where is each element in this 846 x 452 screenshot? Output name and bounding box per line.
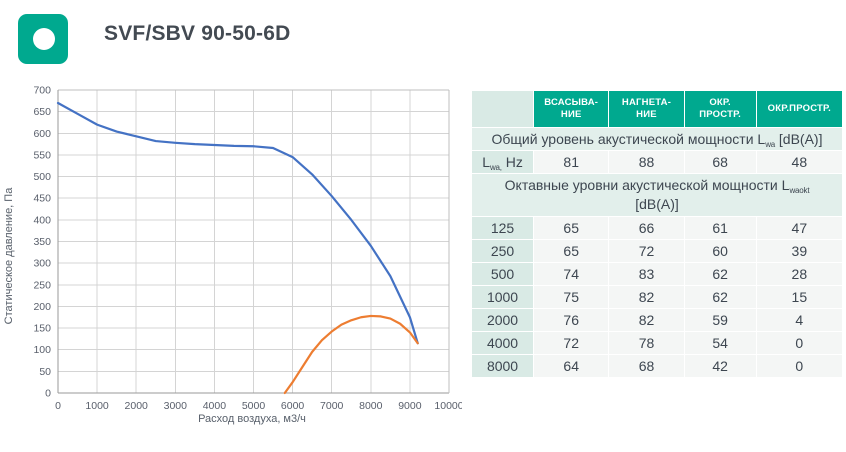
row-label-unit: Hz xyxy=(502,154,523,170)
cell-value: 82 xyxy=(609,286,683,308)
y-axis-tick-labels: 0501001502002503003504004505005506006507… xyxy=(33,85,51,400)
svg-text:0: 0 xyxy=(55,400,61,412)
brand-logo-icon xyxy=(18,14,68,64)
svg-text:6000: 6000 xyxy=(281,400,305,412)
svg-text:150: 150 xyxy=(33,323,51,335)
svg-text:600: 600 xyxy=(33,128,51,140)
cell-value: 72 xyxy=(609,240,683,262)
svg-text:3000: 3000 xyxy=(164,400,188,412)
cell-value: 28 xyxy=(757,263,842,285)
cell-frequency: 4000 xyxy=(472,332,533,354)
section-row-total: Общий уровень акустической мощности Lwa … xyxy=(472,128,842,150)
acoustic-power-table: ВСАСЫВА- НИЕ НАГНЕТА- НИЕ ОКР. ПРОСТР. О… xyxy=(471,90,843,378)
cell-value: 65 xyxy=(534,240,608,262)
header-discharge-line1: НАГНЕТА- xyxy=(622,97,671,108)
cell-value: 54 xyxy=(685,332,756,354)
cell-value: 68 xyxy=(685,151,756,173)
cell-value: 78 xyxy=(609,332,683,354)
section-total-text-after: [dB(A)] xyxy=(775,131,822,147)
cell-frequency: 125 xyxy=(472,217,533,239)
cell-frequency: 8000 xyxy=(472,355,533,377)
section-row-octave: Октавные уровни акустической мощности Lw… xyxy=(472,174,842,216)
section-octave-subscript: waokt xyxy=(789,186,809,195)
svg-text:9000: 9000 xyxy=(398,400,422,412)
cell-frequency: 250 xyxy=(472,240,533,262)
header-discharge: НАГНЕТА- НИЕ xyxy=(609,91,683,127)
table-row: 50074836228 xyxy=(472,263,842,285)
svg-text:2000: 2000 xyxy=(125,400,149,412)
cell-value: 15 xyxy=(757,286,842,308)
chart-canvas: 0501001502002503003504004505005506006507… xyxy=(0,78,462,438)
svg-text:450: 450 xyxy=(33,193,51,205)
x-axis-tick-labels: 0100020003000400050006000700080009000100… xyxy=(55,400,462,412)
header-surrounding-line2: ПРОСТР. xyxy=(699,109,741,120)
svg-text:300: 300 xyxy=(33,258,51,270)
cell-value: 75 xyxy=(534,286,608,308)
svg-text:8000: 8000 xyxy=(359,400,383,412)
cell-value: 76 xyxy=(534,309,608,331)
cell-value: 62 xyxy=(685,286,756,308)
cell-value: 82 xyxy=(609,309,683,331)
table-row: 12565666147 xyxy=(472,217,842,239)
section-octave-text-before: Октавные уровни акустической мощности L xyxy=(505,177,790,193)
section-total-text-before: Общий уровень акустической мощности L xyxy=(491,131,765,147)
section-octave-label: Октавные уровни акустической мощности Lw… xyxy=(472,174,842,216)
row-label-lwa: Lwa, Hz xyxy=(472,151,533,173)
svg-text:7000: 7000 xyxy=(320,400,344,412)
cell-value: 48 xyxy=(757,151,842,173)
svg-text:700: 700 xyxy=(33,85,51,97)
logo-circle-icon xyxy=(33,28,55,50)
cell-value: 4 xyxy=(757,309,842,331)
svg-text:0: 0 xyxy=(45,388,51,400)
chart-gridlines xyxy=(58,90,449,393)
cell-value: 81 xyxy=(534,151,608,173)
row-label-main: L xyxy=(482,154,490,170)
header-surrounding-alt: ОКР.ПРОСТР. xyxy=(757,91,842,127)
cell-value: 74 xyxy=(534,263,608,285)
section-total-subscript: wa xyxy=(765,140,775,149)
cell-value: 66 xyxy=(609,217,683,239)
header-suction-line2: НИЕ xyxy=(561,109,582,120)
cell-value: 60 xyxy=(685,240,756,262)
section-octave-line2: [dB(A)] xyxy=(635,196,679,212)
header-surrounding-alt-line1: ОКР.ПРОСТР. xyxy=(768,103,831,114)
cell-value: 0 xyxy=(757,355,842,377)
table-row: 25065726039 xyxy=(472,240,842,262)
cell-value: 47 xyxy=(757,217,842,239)
table-body: Общий уровень акустической мощности Lwa … xyxy=(472,128,842,216)
y-axis-title: Статическое давление, Па xyxy=(3,187,15,325)
table-row: 100075826215 xyxy=(472,286,842,308)
svg-text:4000: 4000 xyxy=(203,400,227,412)
cell-value: 68 xyxy=(609,355,683,377)
x-axis-title: Расход воздуха, м3/ч xyxy=(198,413,306,425)
svg-text:10000: 10000 xyxy=(434,400,462,412)
cell-value: 83 xyxy=(609,263,683,285)
svg-text:400: 400 xyxy=(33,214,51,226)
svg-text:350: 350 xyxy=(33,236,51,248)
svg-text:1000: 1000 xyxy=(85,400,109,412)
svg-text:250: 250 xyxy=(33,279,51,291)
table-row: 40007278540 xyxy=(472,332,842,354)
svg-text:50: 50 xyxy=(39,366,51,378)
chart-series-line xyxy=(58,103,418,343)
table-row: 20007682594 xyxy=(472,309,842,331)
svg-text:200: 200 xyxy=(33,301,51,313)
page-title: SVF/SBV 90-50-6D xyxy=(104,22,290,46)
cell-value: 59 xyxy=(685,309,756,331)
row-label-sub: wa, xyxy=(490,163,502,172)
header-blank-cell xyxy=(472,91,533,127)
cell-value: 65 xyxy=(534,217,608,239)
header-suction: ВСАСЫВА- НИЕ xyxy=(534,91,608,127)
header-discharge-line2: НИЕ xyxy=(636,109,657,120)
table-header-row: ВСАСЫВА- НИЕ НАГНЕТА- НИЕ ОКР. ПРОСТР. О… xyxy=(472,91,842,127)
cell-value: 62 xyxy=(685,263,756,285)
svg-text:650: 650 xyxy=(33,106,51,118)
table-row: 80006468420 xyxy=(472,355,842,377)
table-row: Lwa, Hz 81 88 68 48 xyxy=(472,151,842,173)
cell-value: 42 xyxy=(685,355,756,377)
cell-value: 88 xyxy=(609,151,683,173)
header-surrounding: ОКР. ПРОСТР. xyxy=(685,91,756,127)
cell-value: 72 xyxy=(534,332,608,354)
cell-value: 61 xyxy=(685,217,756,239)
svg-text:500: 500 xyxy=(33,171,51,183)
cell-frequency: 500 xyxy=(472,263,533,285)
svg-text:5000: 5000 xyxy=(242,400,266,412)
cell-value: 0 xyxy=(757,332,842,354)
svg-text:100: 100 xyxy=(33,344,51,356)
svg-text:550: 550 xyxy=(33,149,51,161)
header-surrounding-line1: ОКР. xyxy=(709,97,731,108)
table-header: ВСАСЫВА- НИЕ НАГНЕТА- НИЕ ОКР. ПРОСТР. О… xyxy=(472,91,842,127)
cell-frequency: 2000 xyxy=(472,309,533,331)
performance-chart: 0501001502002503003504004505005506006507… xyxy=(0,78,462,438)
cell-value: 39 xyxy=(757,240,842,262)
chart-series-line xyxy=(285,316,418,393)
section-total-label: Общий уровень акустической мощности Lwa … xyxy=(472,128,842,150)
page-header: SVF/SBV 90-50-6D xyxy=(0,0,846,78)
header-suction-line1: ВСАСЫВА- xyxy=(544,97,598,108)
cell-value: 64 xyxy=(534,355,608,377)
octave-rows-body: 1256566614725065726039500748362281000758… xyxy=(472,217,842,377)
cell-frequency: 1000 xyxy=(472,286,533,308)
